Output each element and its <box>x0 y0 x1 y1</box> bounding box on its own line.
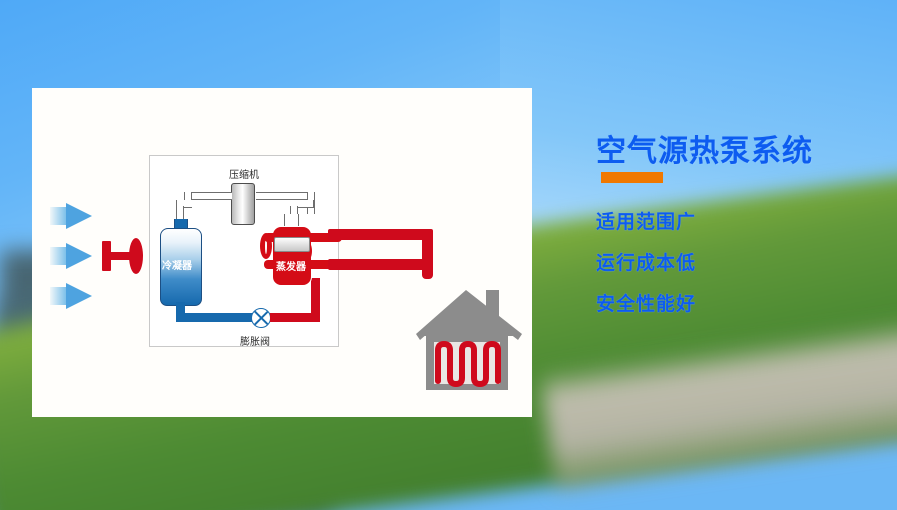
pipe-liquid-line <box>176 313 253 322</box>
house-roof-fill-icon <box>418 294 518 336</box>
title-underline <box>601 172 663 183</box>
fan-shaft-icon <box>111 252 131 260</box>
feature-item-1: 适用范围广 <box>596 207 696 234</box>
evaporator-label: 蒸发器 <box>276 258 306 273</box>
pipe-hot-return <box>328 259 433 270</box>
feature-item-2: 运行成本低 <box>596 248 696 275</box>
airflow-arrow-1 <box>66 203 92 229</box>
feature-item-3: 安全性能好 <box>596 289 696 316</box>
house-svg <box>414 286 526 394</box>
pipe-compressor-outlet <box>256 192 314 200</box>
airflow-arrow-3 <box>66 283 92 309</box>
compressor-label: 压缩机 <box>229 166 259 181</box>
page-title: 空气源热泵系统 <box>596 126 813 170</box>
fan-blade-icon <box>129 238 143 274</box>
diagram-card: 压缩机 冷凝器 膨胀阀 蒸发器 <box>32 88 532 417</box>
slide-canvas: 压缩机 冷凝器 膨胀阀 蒸发器 <box>0 0 897 510</box>
pipe-hot-supply <box>328 229 433 240</box>
compressor-icon <box>231 183 255 225</box>
pipe-right-elbow <box>298 200 314 208</box>
airflow-arrow-tail-2 <box>50 247 66 265</box>
pipe-house-elbow <box>422 229 433 279</box>
evaporator-plate <box>274 237 310 252</box>
house-illustration <box>414 286 526 394</box>
expansion-valve-label: 膨胀阀 <box>240 333 270 348</box>
fan-motor-icon <box>102 241 111 271</box>
evaporator-coil-bend-left <box>260 233 272 259</box>
airflow-arrow-tail-1 <box>50 207 66 225</box>
airflow-arrow-tail-3 <box>50 287 66 305</box>
expansion-valve-icon <box>251 308 271 328</box>
airflow-arrow-2 <box>66 243 92 269</box>
pipe-evaporator-riser <box>311 278 320 322</box>
house-floor-panel <box>434 342 500 384</box>
condenser-label: 冷凝器 <box>162 257 192 272</box>
